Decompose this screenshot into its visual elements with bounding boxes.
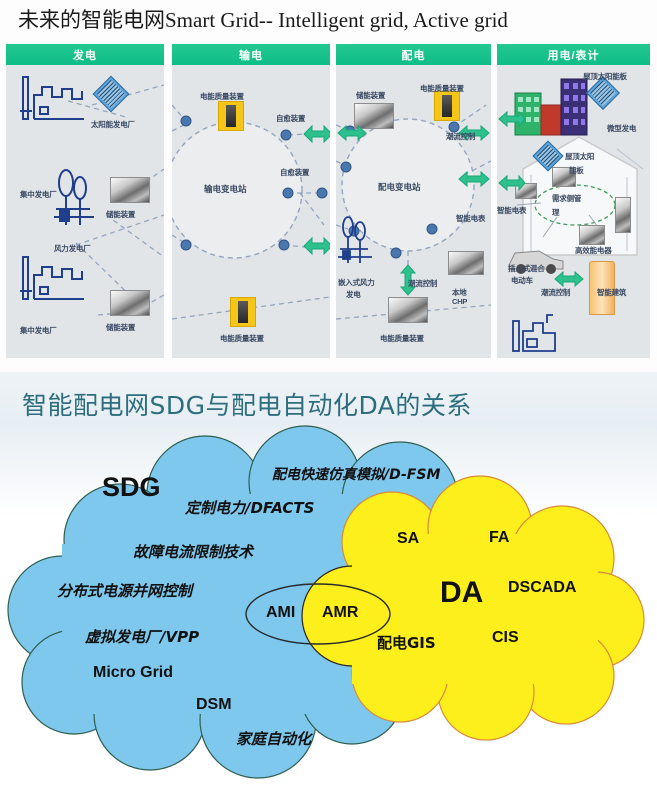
panel-generation: 发电 <box>6 44 164 358</box>
panel-transmission-header: 输电 <box>172 44 330 65</box>
label-power-quality-2: 电能质量装置 <box>220 333 264 344</box>
label-storage-1: 储能装置 <box>106 209 135 220</box>
label-power-quality-1: 电能质量装置 <box>200 91 244 102</box>
label-phev-b: 电动车 <box>511 275 533 286</box>
panel-consumption-header: 用电/表计 <box>497 44 650 65</box>
label-rooftop-solar-1: 屋顶太阳能板 <box>583 71 627 82</box>
label-local-chp-2: CHP <box>452 297 467 306</box>
green-arrow-icon-1 <box>300 123 330 145</box>
label-power-flow-control-2: 潮流控制 <box>408 278 437 289</box>
cloud-label-ami: AMI <box>266 604 295 622</box>
label-phev-a: 插入式混合 <box>508 263 545 274</box>
cloud-label-home-automation: 家庭自动化 <box>236 728 311 749</box>
label-storage-3: 储能装置 <box>356 90 385 101</box>
cloud-label-fault-current-limiting: 故障电流限制技术 <box>133 541 253 562</box>
power-quality-device-icon-2 <box>230 297 256 327</box>
label-self-healing-2: 自愈装置 <box>280 167 309 178</box>
power-quality-device-photo <box>388 297 428 323</box>
cloud-label-sdg: SDG <box>102 472 161 503</box>
cloud-label-dscada: DSCADA <box>508 579 576 597</box>
label-smart-meter-2: 智能电表 <box>497 205 526 216</box>
green-arrow-icon-7 <box>497 109 527 129</box>
green-arrow-icon-2 <box>300 235 330 257</box>
efficient-appliance-photo <box>579 225 605 245</box>
cloud-label-cis: CIS <box>492 629 519 647</box>
label-efficient-appliance: 高效能电器 <box>575 245 612 256</box>
label-embedded-wind-2: 发电 <box>346 289 361 300</box>
label-demand-side-mgmt-b: 理 <box>552 207 559 218</box>
label-self-healing-1: 自愈装置 <box>276 113 305 124</box>
green-arrow-icon-9 <box>553 269 585 289</box>
sdg-da-relationship-diagram: SDG 配电快速仿真模拟/D-FSM 定制电力/DFACTS 故障电流限制技术 … <box>0 424 657 794</box>
panel-generation-body: 集中发电厂 太阳能发电厂 风力发电厂 储能装置 集中发电厂 储能装置 <box>6 65 164 358</box>
label-central-plant-2: 集中发电厂 <box>20 325 57 336</box>
label-solar-plant: 太阳能发电厂 <box>91 119 135 130</box>
appliance-photo-2 <box>615 197 631 233</box>
page-title: 未来的智能电网Smart Grid-- Intelligent grid, Ac… <box>18 2 648 38</box>
power-quality-device-icon-1 <box>218 101 244 131</box>
label-central-plant-1: 集中发电厂 <box>20 189 57 200</box>
cloud-label-amr: AMR <box>322 604 358 622</box>
cloud-label-fa: FA <box>489 529 509 547</box>
cloud-label-distribution-gis: 配电GIS <box>377 632 436 653</box>
storage-device-photo-2 <box>110 290 150 316</box>
label-smart-meter-1: 智能电表 <box>456 213 485 224</box>
top-slide: 未来的智能电网Smart Grid-- Intelligent grid, Ac… <box>0 0 657 372</box>
green-arrow-icon-5 <box>457 169 491 189</box>
section-title: 智能配电网SDG与配电自动化DA的关系 <box>22 386 632 426</box>
panel-consumption: 用电/表计 <box>497 44 650 358</box>
cloud-label-micro-grid: Micro Grid <box>93 664 173 682</box>
label-rooftop-solar-2a: 屋顶太阳 <box>565 151 594 162</box>
panel-distribution-header: 配电 <box>336 44 491 65</box>
bottom-slide: 智能配电网SDG与配电自动化DA的关系 <box>0 372 657 795</box>
panel-distribution-body: 储能装置 电能质量装置 潮流控制 配电变电站 智能电表 嵌入式风力 发电 潮流控… <box>336 65 491 358</box>
label-smart-building: 智能建筑 <box>597 287 626 298</box>
green-arrow-icon-8 <box>497 173 527 193</box>
panel-transmission: 输电 <box>172 44 330 358</box>
cloud-label-da: DA <box>440 576 483 610</box>
panel-transmission-body: 电能质量装置 自愈装置 输电变电站 自愈装置 电能质量装置 <box>172 65 330 358</box>
power-quality-device-icon-3 <box>434 91 460 121</box>
panel-distribution: 配电 <box>336 44 491 358</box>
cloud-label-dsm: DSM <box>196 696 232 714</box>
smart-grid-panels: 发电 <box>0 44 657 362</box>
cloud-label-dfsm: 配电快速仿真模拟/D-FSM <box>272 464 440 484</box>
cloud-label-vpp: 虚拟发电厂/VPP <box>85 626 199 647</box>
local-chp-photo <box>448 251 484 275</box>
storage-device-photo-1 <box>110 177 150 203</box>
label-rooftop-solar-2b: 能板 <box>569 165 584 176</box>
green-arrow-icon-3 <box>336 123 368 143</box>
label-transmission-substation: 输电变电站 <box>204 183 247 195</box>
label-power-quality-4: 电能质量装置 <box>380 333 424 344</box>
label-storage-2: 储能装置 <box>106 322 135 333</box>
label-demand-side-mgmt-a: 需求侧管 <box>552 193 581 204</box>
label-power-flow-control-1: 潮流控制 <box>446 131 475 142</box>
label-embedded-wind-1: 嵌入式风力 <box>338 277 375 288</box>
label-distribution-substation: 配电变电站 <box>378 181 421 193</box>
cloud-label-dfacts: 定制电力/DFACTS <box>185 497 314 518</box>
label-micro-generation: 微型发电 <box>607 123 636 134</box>
cloud-label-dg-grid-control: 分布式电源并网控制 <box>57 580 192 601</box>
cloud-label-sa: SA <box>397 530 419 548</box>
panel-consumption-body: 屋顶太阳能板 微型发电 屋顶太阳 能板 需求侧管 理 智能电表 高效能电器 插入… <box>497 65 650 358</box>
label-power-quality-3: 电能质量装置 <box>420 83 464 94</box>
label-power-flow-control-3: 潮流控制 <box>541 287 570 298</box>
panel-generation-header: 发电 <box>6 44 164 65</box>
label-wind-plant: 风力发电厂 <box>54 243 91 254</box>
